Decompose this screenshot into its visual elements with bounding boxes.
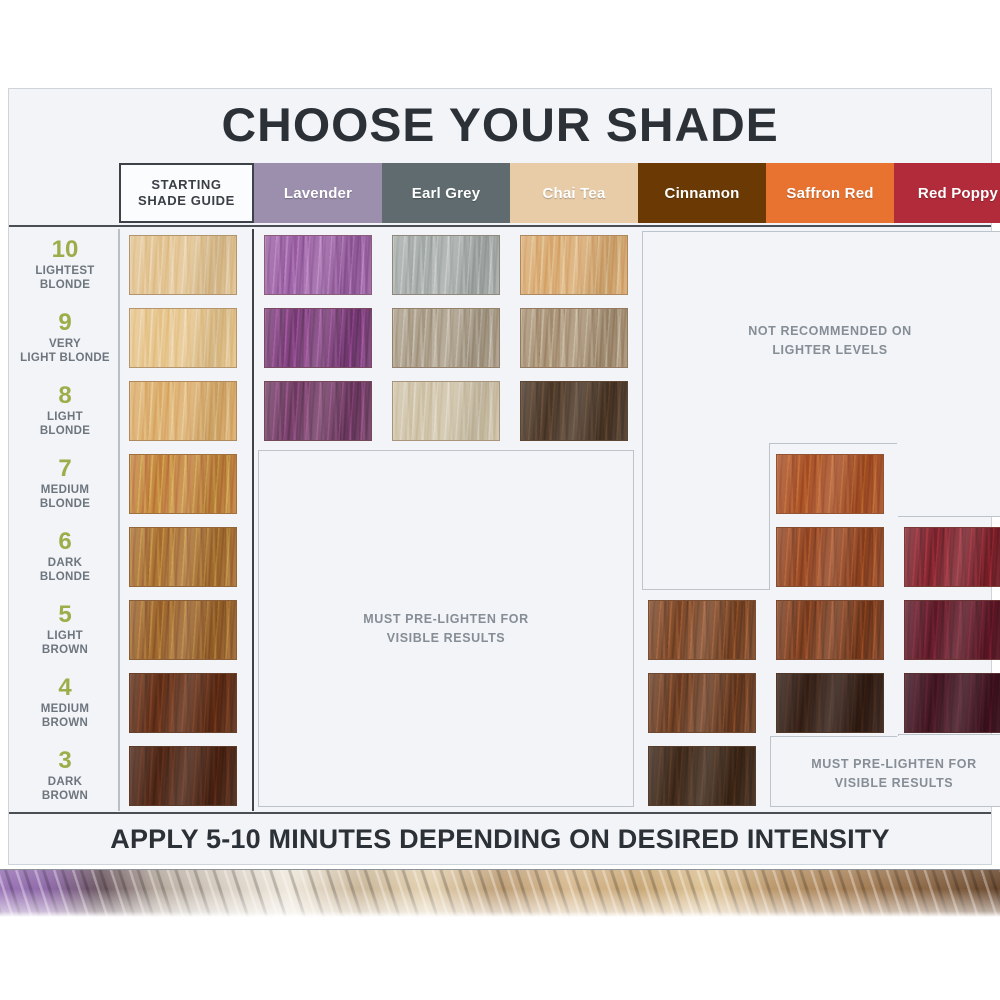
- level-item-7[interactable]: 7MEDIUMBLONDE: [11, 448, 119, 519]
- hair-strand-texture: [393, 382, 499, 440]
- level-item-5[interactable]: 5LIGHTBROWN: [11, 594, 119, 665]
- level-number: 7: [58, 456, 71, 481]
- hair-strand-texture: [777, 674, 883, 732]
- hair-strand-texture: [777, 601, 883, 659]
- level-label: DARKBLONDE: [40, 556, 90, 584]
- level-number: 9: [58, 310, 71, 335]
- level-label: DARKBROWN: [42, 775, 88, 803]
- column-header-label-wrap: STARTINGSHADE GUIDE: [138, 177, 235, 210]
- swatch-red-poppy-6[interactable]: [904, 527, 1000, 587]
- hair-strand-texture: [393, 236, 499, 294]
- hair-texture-strip: [0, 869, 1000, 917]
- hair-strand-texture: [130, 528, 236, 586]
- note-text: MUST PRE-LIGHTEN FORVISIBLE RESULTS: [363, 610, 528, 648]
- swatch-starting-shade-4[interactable]: [129, 673, 237, 733]
- level-sidebar: 10LIGHTESTBLONDE9VERYLIGHT BLONDE8LIGHTB…: [11, 229, 119, 811]
- hair-strand-texture: [649, 674, 755, 732]
- hair-strand-texture: [393, 309, 499, 367]
- swatch-earl-grey-8[interactable]: [392, 381, 500, 441]
- swatch-cinnamon-3[interactable]: [648, 746, 756, 806]
- shade-chart-page: CHOOSE YOUR SHADE STARTINGSHADE GUIDELav…: [0, 0, 1000, 1000]
- hair-strand-texture: [521, 309, 627, 367]
- swatch-starting-shade-7[interactable]: [129, 454, 237, 514]
- hair-strand-texture: [905, 601, 1000, 659]
- swatch-chai-tea-9[interactable]: [520, 308, 628, 368]
- column-header-cinnamon[interactable]: Cinnamon: [638, 163, 766, 223]
- level-label: LIGHTBLONDE: [40, 410, 90, 438]
- level-item-3[interactable]: 3DARKBROWN: [11, 740, 119, 811]
- column-header-lavender[interactable]: Lavender: [254, 163, 382, 223]
- column-header-chai-tea[interactable]: Chai Tea: [510, 163, 638, 223]
- hair-strand-texture: [521, 382, 627, 440]
- level-item-4[interactable]: 4MEDIUMBROWN: [11, 667, 119, 738]
- hair-strand-texture: [649, 747, 755, 805]
- hair-strand-texture: [130, 455, 236, 513]
- swatch-chai-tea-8[interactable]: [520, 381, 628, 441]
- poster-title-bar: CHOOSE YOUR SHADE: [9, 89, 991, 159]
- footer-banner-text: APPLY 5-10 MINUTES DEPENDING ON DESIRED …: [110, 824, 889, 855]
- swatch-lavender-8[interactable]: [264, 381, 372, 441]
- hair-strand-texture: [905, 528, 1000, 586]
- swatch-starting-shade-8[interactable]: [129, 381, 237, 441]
- note-text: NOT RECOMMENDED ONLIGHTER LEVELS: [748, 322, 912, 360]
- swatch-saffron-red-5[interactable]: [776, 600, 884, 660]
- column-header-label: Red Poppy: [918, 185, 998, 202]
- column-header-label: Lavender: [284, 185, 352, 202]
- swatch-earl-grey-10[interactable]: [392, 235, 500, 295]
- hair-strand-texture: [521, 236, 627, 294]
- column-header-label: Cinnamon: [665, 185, 740, 202]
- level-item-8[interactable]: 8LIGHTBLONDE: [11, 375, 119, 446]
- level-label: VERYLIGHT BLONDE: [20, 337, 110, 365]
- hair-strand-texture: [777, 455, 883, 513]
- hair-strip-fade: [0, 870, 1000, 917]
- swatch-earl-grey-9[interactable]: [392, 308, 500, 368]
- level-label: MEDIUMBROWN: [41, 702, 89, 730]
- swatch-chai-tea-10[interactable]: [520, 235, 628, 295]
- swatch-starting-shade-10[interactable]: [129, 235, 237, 295]
- column-header-red-poppy[interactable]: Red Poppy: [894, 163, 1000, 223]
- hair-strand-texture: [130, 236, 236, 294]
- swatch-red-poppy-4[interactable]: [904, 673, 1000, 733]
- hair-strand-texture: [130, 674, 236, 732]
- level-item-10[interactable]: 10LIGHTESTBLONDE: [11, 229, 119, 300]
- swatch-grid: MUST PRE-LIGHTEN FORVISIBLE RESULTSNOT R…: [119, 229, 991, 811]
- swatch-saffron-red-7[interactable]: [776, 454, 884, 514]
- note-not-recommended-seg-poppy: [898, 231, 1000, 517]
- column-header-earl-grey[interactable]: Earl Grey: [382, 163, 510, 223]
- page-title: CHOOSE YOUR SHADE: [221, 97, 778, 152]
- column-header-label: Earl Grey: [412, 185, 481, 202]
- swatch-starting-shade-5[interactable]: [129, 600, 237, 660]
- hair-strand-texture: [649, 601, 755, 659]
- column-header-row: STARTINGSHADE GUIDELavenderEarl GreyChai…: [119, 163, 1000, 223]
- seam-mask-2: [897, 232, 900, 516]
- hair-strand-texture: [265, 309, 371, 367]
- swatch-cinnamon-5[interactable]: [648, 600, 756, 660]
- swatch-starting-shade-9[interactable]: [129, 308, 237, 368]
- column-header-saffron-red[interactable]: Saffron Red: [766, 163, 894, 223]
- swatch-saffron-red-4[interactable]: [776, 673, 884, 733]
- header-divider-top: [9, 225, 991, 227]
- note-not-recommended-label: NOT RECOMMENDED ONLIGHTER LEVELS: [642, 321, 1000, 361]
- level-number: 5: [58, 602, 71, 627]
- level-item-9[interactable]: 9VERYLIGHT BLONDE: [11, 302, 119, 373]
- swatch-lavender-10[interactable]: [264, 235, 372, 295]
- swatch-lavender-9[interactable]: [264, 308, 372, 368]
- hair-strand-texture: [265, 236, 371, 294]
- level-number: 3: [58, 748, 71, 773]
- level-label: LIGHTESTBLONDE: [35, 264, 94, 292]
- note-must-pre-lighten-left: MUST PRE-LIGHTEN FORVISIBLE RESULTS: [258, 450, 634, 807]
- hair-strand-texture: [777, 528, 883, 586]
- level-label: LIGHTBROWN: [42, 629, 88, 657]
- footer-banner: APPLY 5-10 MINUTES DEPENDING ON DESIRED …: [9, 814, 991, 864]
- column-header-label: STARTING: [151, 177, 221, 192]
- swatch-starting-shade-3[interactable]: [129, 746, 237, 806]
- level-number: 8: [58, 383, 71, 408]
- level-number: 6: [58, 529, 71, 554]
- column-header-starting-shade-guide[interactable]: STARTINGSHADE GUIDE: [119, 163, 254, 223]
- swatch-cinnamon-4[interactable]: [648, 673, 756, 733]
- level-item-6[interactable]: 6DARKBLONDE: [11, 521, 119, 592]
- note-not-recommended-seg-cinnamon: [642, 231, 770, 590]
- hair-strand-texture: [130, 747, 236, 805]
- column-header-label: Saffron Red: [786, 185, 873, 202]
- note-must-pre-lighten-right: MUST PRE-LIGHTEN FORVISIBLE RESULTS: [770, 754, 1000, 794]
- level-label: MEDIUMBLONDE: [40, 483, 90, 511]
- hair-strand-texture: [130, 601, 236, 659]
- hair-strand-texture: [130, 382, 236, 440]
- shade-chart-poster: CHOOSE YOUR SHADE STARTINGSHADE GUIDELav…: [8, 88, 992, 865]
- column-header-label: Chai Tea: [542, 185, 605, 202]
- note-text: MUST PRE-LIGHTEN FORVISIBLE RESULTS: [811, 755, 976, 793]
- swatch-saffron-red-6[interactable]: [776, 527, 884, 587]
- hair-strand-texture: [265, 382, 371, 440]
- column-header-label: SHADE GUIDE: [138, 193, 235, 208]
- hair-strand-texture: [905, 674, 1000, 732]
- level-number: 4: [58, 675, 71, 700]
- swatch-starting-shade-6[interactable]: [129, 527, 237, 587]
- level-number: 10: [52, 237, 79, 262]
- hair-strand-texture: [130, 309, 236, 367]
- swatch-red-poppy-5[interactable]: [904, 600, 1000, 660]
